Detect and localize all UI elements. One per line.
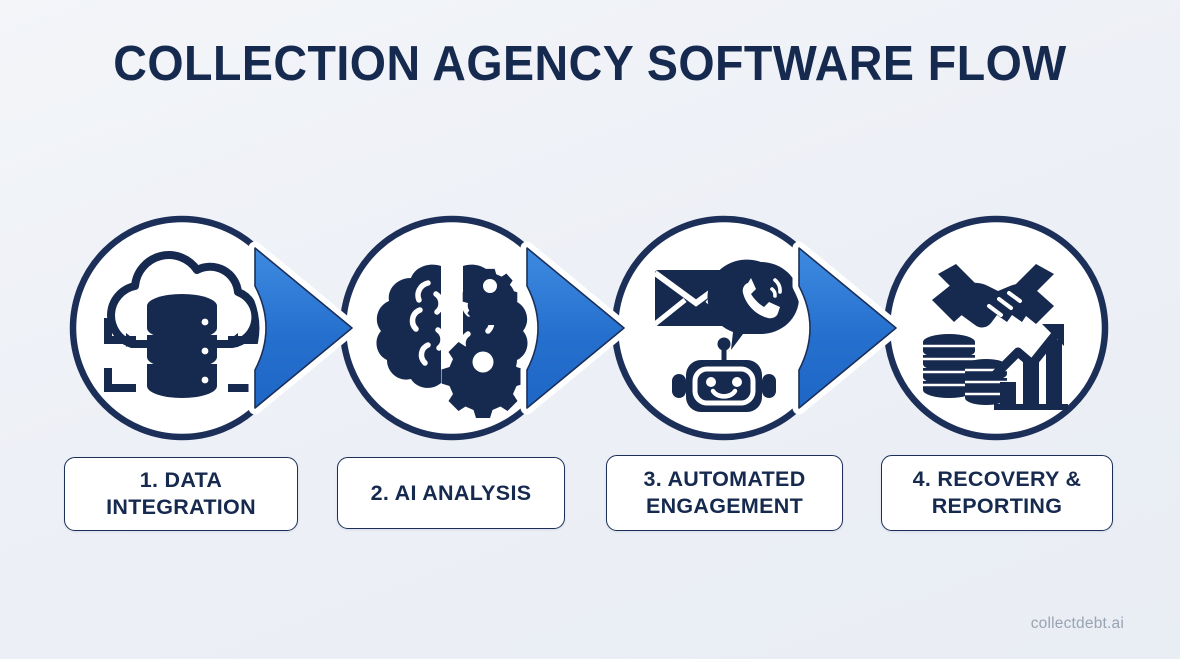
step-circle-4[interactable] bbox=[887, 219, 1105, 437]
step-label-3-line1: 3. AUTOMATED bbox=[643, 466, 805, 493]
step-label-4[interactable]: 4. RECOVERY & REPORTING bbox=[881, 455, 1113, 531]
infographic-canvas: COLLECTION AGENCY SOFTWARE FLOW bbox=[0, 0, 1180, 659]
arrow-right-icon-2 bbox=[527, 248, 624, 408]
arrow-right-icon-1 bbox=[255, 248, 352, 408]
watermark: collectdebt.ai bbox=[1031, 615, 1124, 633]
step-label-2-line1: 2. AI ANALYSIS bbox=[371, 480, 532, 507]
step-label-3[interactable]: 3. AUTOMATED ENGAGEMENT bbox=[606, 455, 843, 531]
step-label-1-line2: INTEGRATION bbox=[106, 494, 256, 521]
arrow-right-icon-3 bbox=[799, 248, 896, 408]
process-flow-diagram bbox=[0, 0, 1180, 659]
step-label-2[interactable]: 2. AI ANALYSIS bbox=[337, 457, 565, 529]
step-label-1-line1: 1. DATA bbox=[106, 467, 256, 494]
step-label-4-line2: REPORTING bbox=[913, 493, 1082, 520]
step-label-4-line1: 4. RECOVERY & bbox=[913, 466, 1082, 493]
step-label-3-line2: ENGAGEMENT bbox=[643, 493, 805, 520]
step-label-1[interactable]: 1. DATA INTEGRATION bbox=[64, 457, 298, 531]
